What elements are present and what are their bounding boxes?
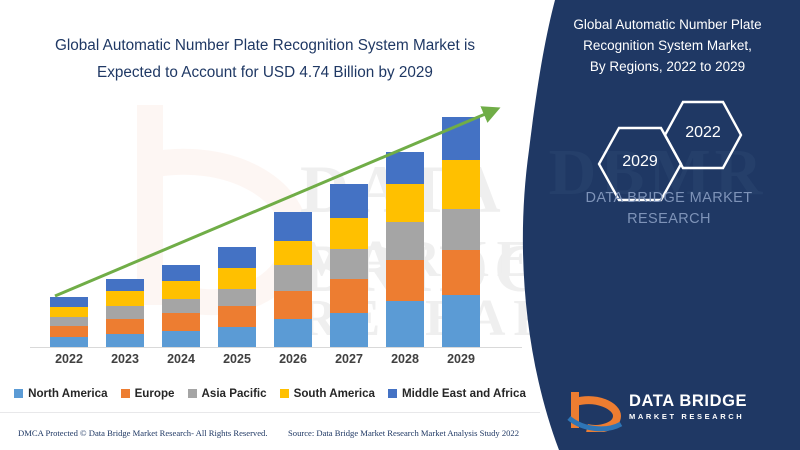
panel-brand-line-1: DATA BRIDGE MARKET xyxy=(545,188,793,209)
footer-divider xyxy=(0,412,540,413)
legend-swatch xyxy=(280,389,289,398)
hexagon-year-end-label: 2029 xyxy=(597,153,683,171)
legend-item[interactable]: Middle East and Africa xyxy=(388,387,526,400)
dbmr-logo-name: DATA BRIDGE xyxy=(629,392,747,411)
legend-label: Europe xyxy=(135,387,175,400)
infographic-page: DATA BRIDGE MARKET RESEARCH Global Autom… xyxy=(0,0,800,450)
stacked-bar-chart xyxy=(20,96,520,348)
x-tick-label-2023: 2023 xyxy=(97,352,153,366)
panel-title-line-1: Global Automatic Number Plate xyxy=(545,14,790,35)
x-tick-label-2024: 2024 xyxy=(153,352,209,366)
legend-label: South America xyxy=(294,387,375,400)
page-title-line-2: Expected to Account for USD 4.74 Billion… xyxy=(22,59,508,86)
right-info-panel: DBMR Global Automatic Number Plate Recog… xyxy=(515,0,800,450)
x-tick-label-2022: 2022 xyxy=(41,352,97,366)
dbmr-logo-tagline: MARKET RESEARCH xyxy=(629,412,744,421)
page-title: Global Automatic Number Plate Recognitio… xyxy=(22,32,508,86)
page-title-line-1: Global Automatic Number Plate Recognitio… xyxy=(22,32,508,59)
legend-item[interactable]: Asia Pacific xyxy=(188,387,267,400)
panel-title-line-2: Recognition System Market, xyxy=(545,35,790,56)
footer-copyright: DMCA Protected © Data Bridge Market Rese… xyxy=(18,428,268,438)
legend-label: Middle East and Africa xyxy=(402,387,526,400)
legend-item[interactable]: North America xyxy=(14,387,107,400)
legend-item[interactable]: Europe xyxy=(121,387,175,400)
legend-swatch xyxy=(388,389,397,398)
dbmr-logo-mark xyxy=(567,388,623,432)
x-tick-label-2027: 2027 xyxy=(321,352,377,366)
x-tick-label-2028: 2028 xyxy=(377,352,433,366)
legend-swatch xyxy=(14,389,23,398)
x-tick-label-2025: 2025 xyxy=(209,352,265,366)
chart-legend: North AmericaEuropeAsia PacificSouth Ame… xyxy=(20,382,520,404)
legend-swatch xyxy=(121,389,130,398)
chart-x-tick-labels: 20222023202420252026202720282029 xyxy=(20,352,520,372)
x-tick-label-2029: 2029 xyxy=(433,352,489,366)
panel-brand-line-2: RESEARCH xyxy=(545,209,793,230)
growth-trend-arrow xyxy=(20,96,520,348)
panel-title-line-3: By Regions, 2022 to 2029 xyxy=(545,56,790,77)
x-tick-label-2026: 2026 xyxy=(265,352,321,366)
legend-swatch xyxy=(188,389,197,398)
legend-label: North America xyxy=(28,387,107,400)
panel-title: Global Automatic Number Plate Recognitio… xyxy=(545,14,790,77)
footer-source: Source: Data Bridge Market Research Mark… xyxy=(288,428,519,438)
legend-item[interactable]: South America xyxy=(280,387,375,400)
panel-brand-text: DATA BRIDGE MARKET RESEARCH xyxy=(545,188,793,230)
legend-label: Asia Pacific xyxy=(202,387,267,400)
dbmr-logo: DATA BRIDGE MARKET RESEARCH xyxy=(567,388,782,434)
